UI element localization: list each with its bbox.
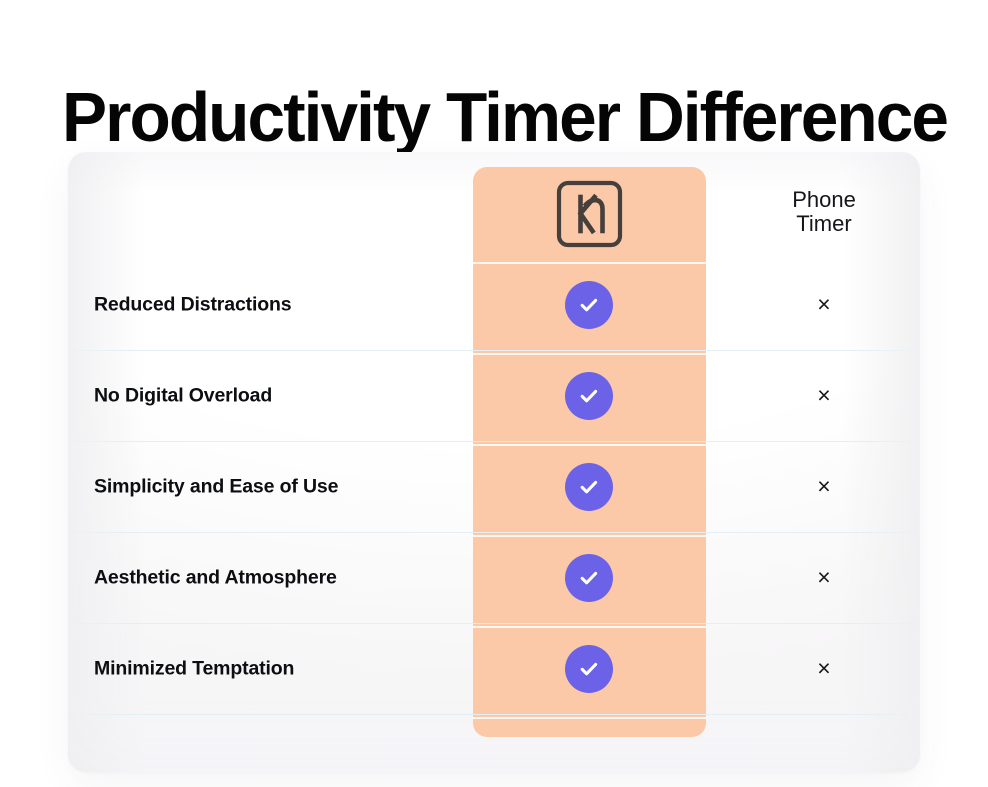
row-divider: [68, 532, 920, 533]
cross-icon: ×: [804, 467, 844, 507]
check-circle-icon: [565, 372, 613, 420]
check-circle-icon: [565, 554, 613, 602]
check-circle-icon: [565, 463, 613, 511]
row-divider: [68, 623, 920, 624]
feature-label: Aesthetic and Atmosphere: [94, 566, 337, 589]
row-divider: [68, 350, 920, 351]
feature-label: Minimized Temptation: [94, 657, 294, 680]
cross-icon: ×: [804, 376, 844, 416]
table-row: Aesthetic and Atmosphere ×: [0, 532, 988, 623]
feature-label: No Digital Overload: [94, 384, 272, 407]
row-divider: [68, 714, 920, 715]
table-row: Minimized Temptation ×: [0, 623, 988, 714]
comparison-rows: Reduced Distractions × No Digital Overlo…: [0, 0, 988, 787]
check-circle-icon: [565, 645, 613, 693]
table-row: Reduced Distractions ×: [0, 259, 988, 350]
cross-icon: ×: [804, 558, 844, 598]
cross-icon: ×: [804, 285, 844, 325]
row-divider: [68, 441, 920, 442]
cross-icon: ×: [804, 649, 844, 689]
table-row: No Digital Overload ×: [0, 350, 988, 441]
feature-label: Simplicity and Ease of Use: [94, 475, 338, 498]
feature-label: Reduced Distractions: [94, 293, 291, 316]
table-row: Simplicity and Ease of Use ×: [0, 441, 988, 532]
check-circle-icon: [565, 281, 613, 329]
